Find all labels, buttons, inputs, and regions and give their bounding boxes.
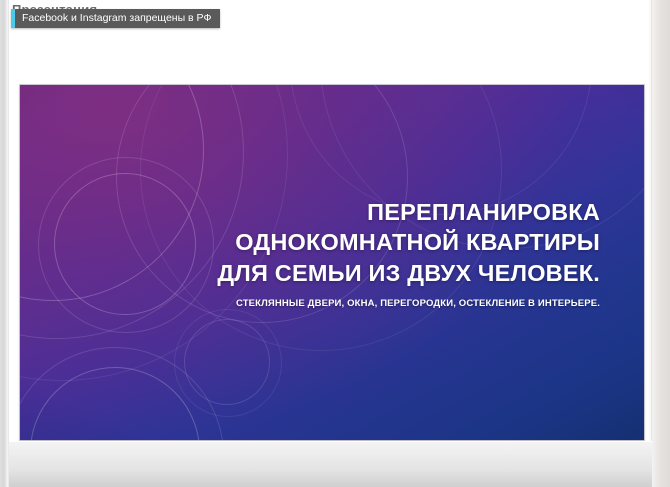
page-left-rule	[8, 0, 9, 487]
document-page: Презентация Facebook и Instagram запреще…	[0, 0, 670, 487]
page-right-rule	[651, 0, 652, 487]
notice-label: Facebook и Instagram запрещены в РФ	[15, 9, 220, 28]
restriction-notice-tooltip: Facebook и Instagram запрещены в РФ	[11, 9, 220, 28]
slide-subtitle: СТЕКЛЯННЫЕ ДВЕРИ, ОКНА, ПЕРЕГОРОДКИ, ОСТ…	[200, 297, 600, 311]
slide-canvas: ПЕРЕПЛАНИРОВКА ОДНОКОМНАТНОЙ КВАРТИРЫ ДЛ…	[20, 85, 644, 440]
slide-title-line: ОДНОКОМНАТНОЙ КВАРТИРЫ	[200, 227, 600, 257]
slide-title-line: ПЕРЕПЛАНИРОВКА	[200, 197, 600, 227]
presentation-slide[interactable]: ПЕРЕПЛАНИРОВКА ОДНОКОМНАТНОЙ КВАРТИРЫ ДЛ…	[20, 85, 644, 440]
slide-text-block: ПЕРЕПЛАНИРОВКА ОДНОКОМНАТНОЙ КВАРТИРЫ ДЛ…	[200, 197, 600, 311]
below-slide-divider	[9, 441, 652, 442]
slide-title-line: ДЛЯ СЕМЬИ ИЗ ДВУХ ЧЕЛОВЕК.	[200, 258, 600, 288]
page-area-below-slide	[9, 441, 652, 487]
